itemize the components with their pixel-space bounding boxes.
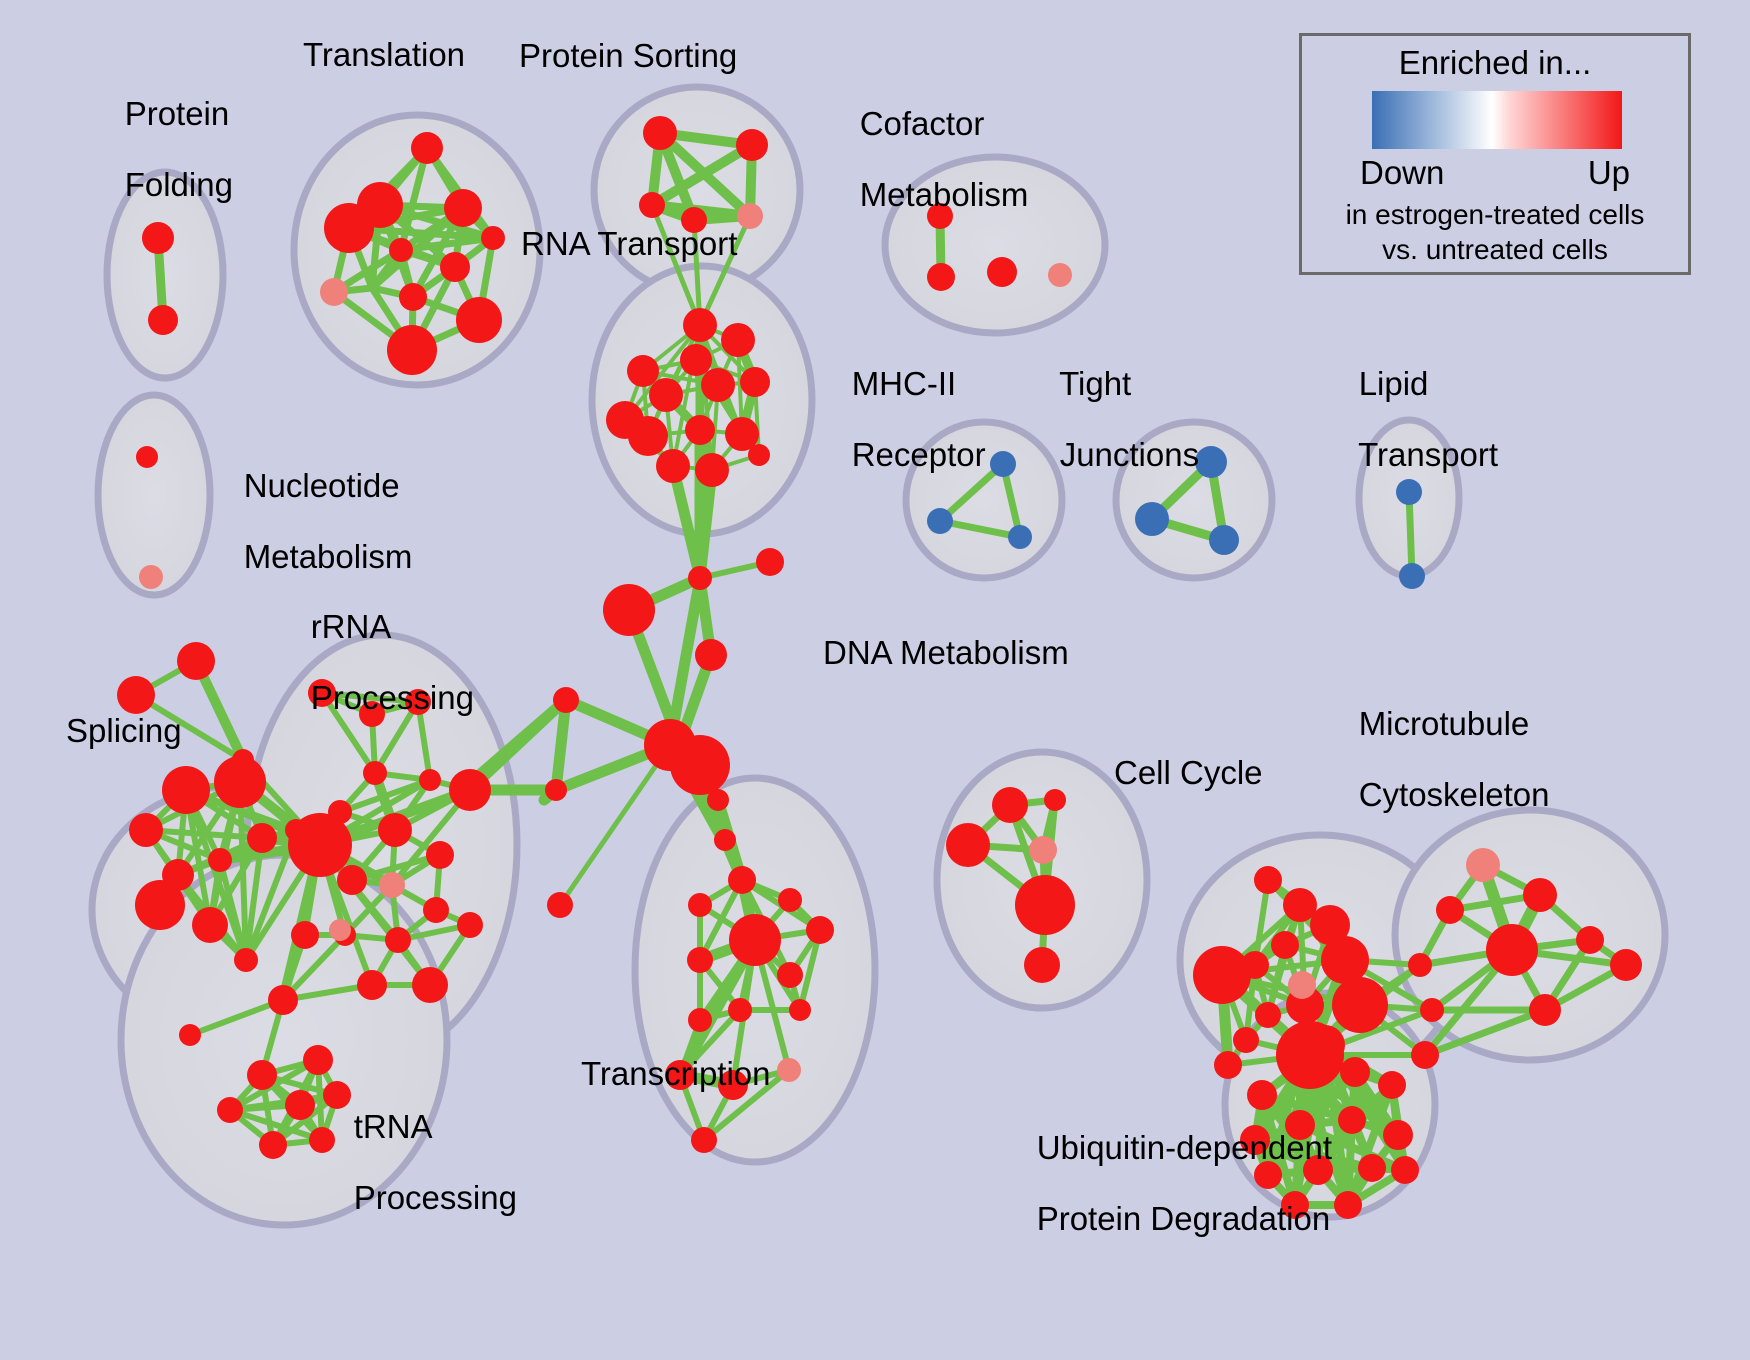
node — [789, 999, 811, 1021]
label-line: Cofactor — [860, 105, 985, 142]
node — [1399, 563, 1425, 589]
node — [695, 453, 729, 487]
color-scale-bar — [1372, 91, 1622, 149]
node — [1340, 1057, 1370, 1087]
label-line: Receptor — [852, 436, 986, 473]
node — [1008, 525, 1032, 549]
label-line: MHC-II — [852, 365, 956, 402]
label-line: Processing — [311, 679, 474, 716]
node — [136, 446, 158, 468]
node — [379, 872, 405, 898]
node — [129, 813, 163, 847]
node — [426, 841, 454, 869]
node — [440, 252, 470, 282]
cluster-label-ubiquitin-protein-degradation: Ubiquitin-dependent Protein Degradation — [1000, 1094, 1332, 1272]
node — [649, 378, 683, 412]
node — [1338, 1106, 1366, 1134]
node — [1024, 947, 1060, 983]
node — [1391, 1156, 1419, 1184]
node — [1332, 977, 1388, 1033]
node — [707, 789, 729, 811]
node — [1408, 953, 1432, 977]
node — [1255, 1002, 1281, 1028]
node — [728, 998, 752, 1022]
label-line: Processing — [354, 1179, 517, 1216]
node — [1209, 525, 1239, 555]
node — [1378, 1071, 1406, 1099]
node — [268, 985, 298, 1015]
node — [1383, 1120, 1413, 1150]
node — [656, 449, 690, 483]
node — [378, 813, 412, 847]
node — [259, 1131, 287, 1159]
node — [721, 323, 755, 357]
node — [1358, 1154, 1386, 1182]
label-line: Microtubule — [1359, 705, 1530, 742]
node — [927, 263, 955, 291]
node — [714, 829, 736, 851]
node — [1420, 998, 1444, 1022]
label-line: Cytoskeleton — [1359, 776, 1550, 813]
node — [627, 355, 659, 387]
legend-title: Enriched in... — [1302, 44, 1688, 82]
label-line: Folding — [125, 166, 233, 203]
node — [1193, 946, 1251, 1004]
legend-high-label: Up — [1588, 154, 1630, 192]
node — [357, 970, 387, 1000]
label-line: Protein — [125, 95, 230, 132]
cluster-label-trna-processing: tRNA Processing — [317, 1073, 517, 1251]
label-line: Protein Degradation — [1037, 1200, 1331, 1237]
node — [777, 962, 803, 988]
node — [748, 444, 770, 466]
node — [1241, 951, 1269, 979]
node — [1029, 836, 1057, 864]
cluster-label-dna-metabolism: DNA Metabolism — [823, 635, 1069, 671]
node — [117, 676, 155, 714]
cluster-label-protein-sorting: Protein Sorting — [519, 38, 737, 74]
node — [1321, 936, 1369, 984]
node — [389, 238, 413, 262]
cluster-label-rrna-processing: rRNA Processing — [274, 573, 474, 751]
cluster-label-translation: Translation — [303, 37, 465, 73]
node — [1233, 1027, 1259, 1053]
node — [553, 687, 579, 713]
node — [291, 921, 319, 949]
node — [411, 132, 443, 164]
node — [740, 367, 770, 397]
node — [177, 642, 215, 680]
node — [387, 325, 437, 375]
node — [1271, 931, 1299, 959]
node — [1254, 866, 1282, 894]
node — [1576, 926, 1604, 954]
cluster-label-cofactor-metabolism: Cofactor Metabolism — [823, 70, 1028, 248]
node — [1486, 924, 1538, 976]
node — [444, 189, 482, 227]
node — [288, 813, 352, 877]
node — [1466, 848, 1500, 882]
label-line: Lipid — [1359, 365, 1429, 402]
node — [603, 584, 655, 636]
node — [399, 283, 427, 311]
cluster-label-splicing: Splicing — [66, 713, 182, 749]
node — [208, 848, 232, 872]
node — [683, 308, 717, 342]
node — [737, 203, 763, 229]
node — [1411, 1041, 1439, 1069]
node — [285, 1090, 315, 1120]
label-line: Tight — [1059, 365, 1131, 402]
node — [729, 914, 781, 966]
node — [1523, 878, 1557, 912]
node — [688, 1008, 712, 1032]
legend-low-label: Down — [1360, 154, 1444, 192]
label-line: rRNA — [311, 608, 392, 645]
node — [337, 865, 367, 895]
cluster-label-transcription: Transcription — [581, 1056, 771, 1092]
node — [806, 916, 834, 944]
node — [1015, 875, 1075, 935]
node — [628, 416, 668, 456]
cluster-label-tight-junctions: Tight Junctions — [1023, 330, 1199, 508]
node — [685, 415, 715, 445]
node — [135, 880, 185, 930]
node — [1044, 789, 1066, 811]
node — [992, 787, 1028, 823]
node — [643, 116, 677, 150]
node — [1436, 896, 1464, 924]
node — [457, 912, 483, 938]
node — [1305, 1025, 1345, 1065]
label-line: Junctions — [1060, 436, 1199, 473]
node — [691, 1127, 717, 1153]
node — [1286, 1054, 1314, 1082]
node — [1529, 994, 1561, 1026]
node — [217, 1097, 243, 1123]
enrichment-map-figure: Protein Folding Translation Protein Sort… — [0, 0, 1750, 1360]
node — [423, 897, 449, 923]
legend-panel: Enriched in... Down Up in estrogen-treat… — [1299, 33, 1691, 275]
node — [1288, 971, 1316, 999]
node — [687, 947, 713, 973]
node — [363, 761, 387, 785]
label-line: Metabolism — [244, 538, 413, 575]
label-line: Transport — [1358, 436, 1498, 473]
node — [456, 297, 502, 343]
node — [736, 129, 768, 161]
node — [192, 907, 228, 943]
cluster-label-microtubule-cytoskeleton: Microtubule Cytoskeleton — [1322, 670, 1549, 848]
node — [728, 866, 756, 894]
node — [329, 919, 351, 941]
legend-caption-line2: vs. untreated cells — [1302, 234, 1688, 266]
node — [481, 226, 505, 250]
node — [927, 508, 953, 534]
node — [777, 1058, 801, 1082]
node — [1048, 263, 1072, 287]
cluster-halo-nucleotide-metabolism — [98, 395, 210, 595]
cluster-label-protein-folding: Protein Folding — [88, 60, 233, 238]
label-line: tRNA — [354, 1108, 433, 1145]
legend-caption-line1: in estrogen-treated cells — [1302, 199, 1688, 231]
node — [1214, 1051, 1242, 1079]
node — [179, 1024, 201, 1046]
label-line: Metabolism — [860, 176, 1029, 213]
node — [1195, 446, 1227, 478]
label-line: Nucleotide — [244, 467, 400, 504]
node — [324, 203, 374, 253]
node — [987, 257, 1017, 287]
node — [670, 735, 730, 795]
node — [162, 766, 210, 814]
node — [778, 888, 802, 912]
node — [680, 344, 712, 376]
node — [247, 823, 277, 853]
node — [214, 756, 266, 808]
node — [547, 892, 573, 918]
node — [688, 566, 712, 590]
node — [756, 548, 784, 576]
node — [449, 769, 491, 811]
node — [412, 967, 448, 1003]
node — [247, 1060, 277, 1090]
node — [385, 927, 411, 953]
node — [701, 368, 735, 402]
node — [139, 565, 163, 589]
node — [303, 1045, 333, 1075]
cluster-label-lipid-transport: Lipid Transport — [1322, 330, 1498, 508]
cluster-label-rna-transport: RNA Transport — [521, 226, 737, 262]
node — [946, 823, 990, 867]
node — [234, 948, 258, 972]
label-line: Ubiquitin-dependent — [1037, 1129, 1332, 1166]
node — [990, 451, 1016, 477]
node — [419, 769, 441, 791]
cluster-halo-transcription — [635, 778, 875, 1162]
node — [639, 192, 665, 218]
node — [695, 639, 727, 671]
node — [148, 305, 178, 335]
node — [320, 278, 348, 306]
cluster-label-cell-cycle: Cell Cycle — [1114, 755, 1263, 791]
cluster-label-mhc-ii-receptor: MHC-II Receptor — [815, 330, 986, 508]
node — [688, 893, 712, 917]
node — [545, 779, 567, 801]
node — [1610, 949, 1642, 981]
node — [1334, 1191, 1362, 1219]
